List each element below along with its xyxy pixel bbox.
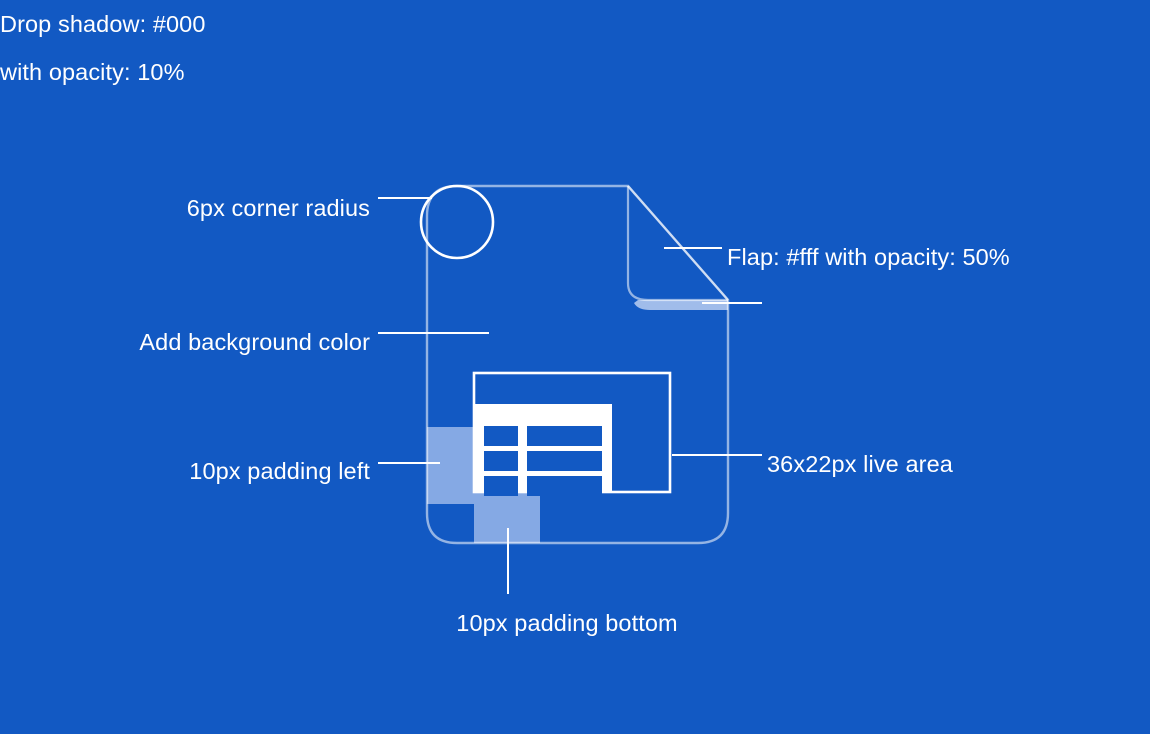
- table-grid-icon: [474, 404, 612, 496]
- flap-drop-shadow: [634, 300, 728, 310]
- annotation-padding-bottom: 10px padding bottom: [300, 599, 834, 647]
- flap-fold-line: [628, 186, 728, 300]
- spec-diagram-canvas: 6px corner radius Add background color 1…: [0, 0, 1150, 734]
- annotation-live-area: 36x22px live area: [767, 440, 1150, 488]
- annotation-flap: Flap: #fff with opacity: 50%: [727, 233, 1147, 281]
- padding-left-highlight: [427, 427, 474, 504]
- leader-lines: [378, 198, 762, 594]
- annotation-corner-radius: 6px corner radius: [0, 184, 370, 232]
- annotation-background-color: Add background color: [0, 318, 370, 366]
- annotation-padding-left: 10px padding left: [0, 447, 370, 495]
- corner-radius-circle: [421, 186, 493, 258]
